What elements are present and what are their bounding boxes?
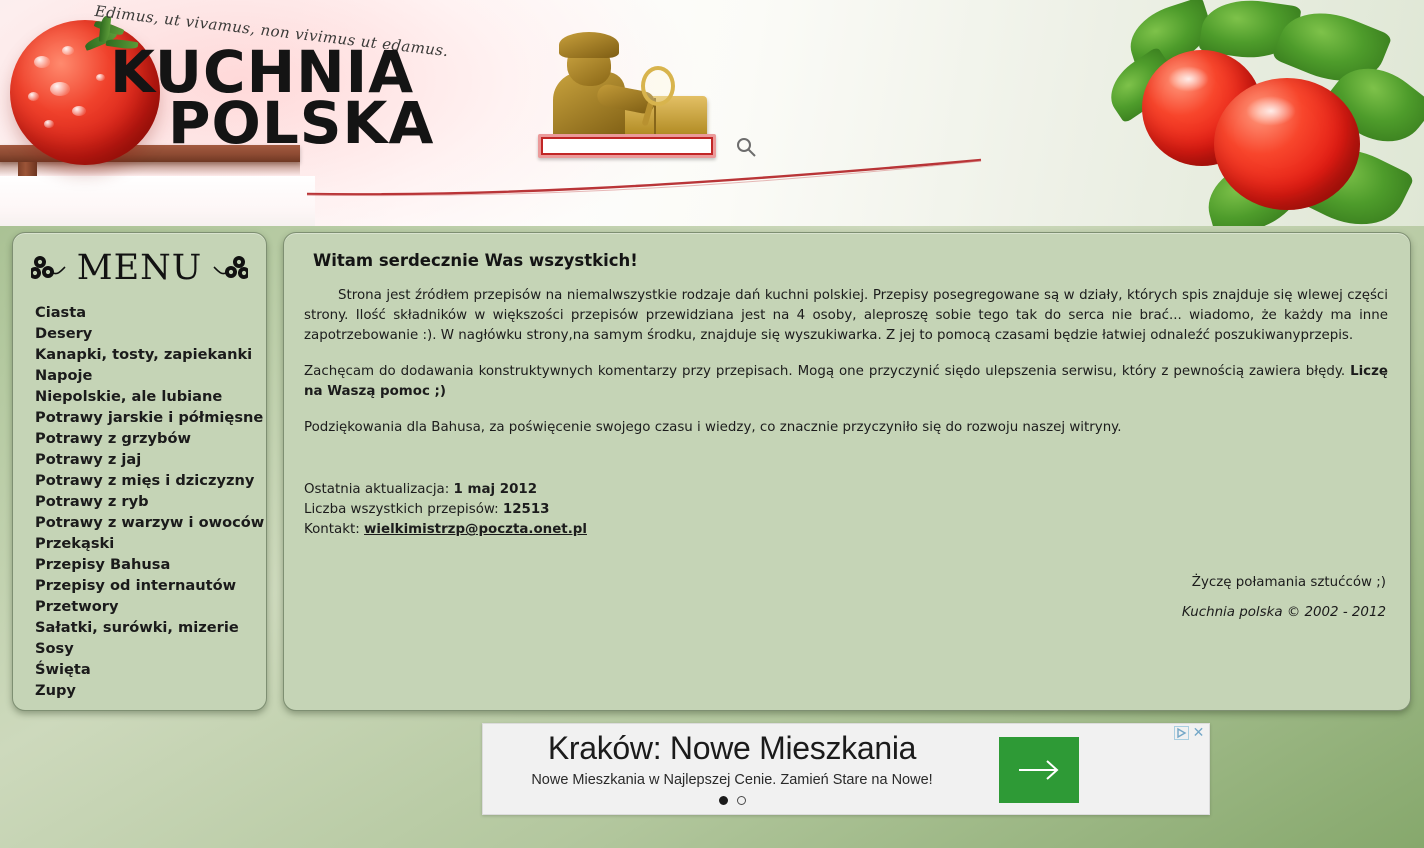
sidebar-item-swieta[interactable]: Święta (35, 659, 266, 680)
last-update-row: Ostatnia aktualizacja: 1 maj 2012 (304, 480, 1388, 500)
floral-ornament-right-icon (210, 253, 248, 283)
signoff-block: Życzę połamania sztućców ;) Kuchnia pols… (1182, 568, 1386, 628)
sidebar-item-przepisy-bahusa[interactable]: Przepisy Bahusa (35, 554, 266, 575)
intro-paragraph: Strona jest źródłem przepisów na niemalw… (304, 286, 1388, 346)
detective-illustration (545, 28, 710, 146)
menu-title: MENU (13, 246, 266, 290)
sidebar-item-sosy[interactable]: Sosy (35, 638, 266, 659)
menu-list: Ciasta Desery Kanapki, tosty, zapiekanki… (13, 302, 266, 701)
logo-line-2: POLSKA (168, 98, 434, 149)
adchoices-icon[interactable] (1174, 725, 1189, 739)
ad-dot-1[interactable] (719, 796, 728, 805)
page-title: Witam serdecznie Was wszystkich! (313, 251, 1388, 270)
table-shadow (0, 162, 300, 176)
sidebar-item-przepisy-internautow[interactable]: Przepisy od internautów (35, 575, 266, 596)
signoff-text: Życzę połamania sztućców ;) (1182, 568, 1386, 598)
sidebar-item-ciasta[interactable]: Ciasta (35, 302, 266, 323)
floral-ornament-left-icon (31, 253, 69, 283)
recipe-count-row: Liczba wszystkich przepisów: 12513 (304, 500, 1388, 520)
contact-email-link[interactable]: wielkimistrzp@poczta.onet.pl (364, 522, 587, 537)
sidebar-menu-panel: MENU Ciasta Desery Kanapki, tosty, zapie… (12, 232, 267, 711)
menu-title-label: MENU (77, 251, 203, 286)
sidebar-item-przetwory[interactable]: Przetwory (35, 596, 266, 617)
header-white-sheet (0, 176, 315, 226)
ad-cta-button[interactable] (999, 737, 1079, 803)
ad-dot-2[interactable] (737, 796, 746, 805)
sidebar-item-miesa[interactable]: Potrawy z mięs i dziczyzny (35, 470, 266, 491)
recipe-count-value: 12513 (503, 502, 550, 517)
ad-title: Kraków: Nowe Mieszkania (497, 730, 967, 767)
comments-paragraph: Zachęcam do dodawania konstruktywnych ko… (304, 362, 1388, 402)
magnifier-lens-icon (641, 66, 675, 106)
sidebar-item-napoje[interactable]: Napoje (35, 365, 266, 386)
ad-close-icon[interactable]: ✕ (1191, 725, 1206, 739)
red-swoosh-decoration (305, 152, 985, 200)
thanks-paragraph: Podziękowania dla Bahusa, za poświęcenie… (304, 418, 1388, 438)
site-stats: Ostatnia aktualizacja: 1 maj 2012 Liczba… (304, 480, 1388, 540)
sidebar-item-ryby[interactable]: Potrawy z ryb (35, 491, 266, 512)
sidebar-item-jaja[interactable]: Potrawy z jaj (35, 449, 266, 470)
site-logo[interactable]: KUCHNIA POLSKA (110, 47, 434, 149)
comments-paragraph-text: Zachęcam do dodawania konstruktywnych ko… (304, 364, 1350, 379)
arrow-right-icon (1015, 757, 1063, 783)
sidebar-item-przekaski[interactable]: Przekąski (35, 533, 266, 554)
sidebar-item-grzyby[interactable]: Potrawy z grzybów (35, 428, 266, 449)
last-update-label: Ostatnia aktualizacja: (304, 482, 449, 497)
sidebar-item-kanapki[interactable]: Kanapki, tosty, zapiekanki (35, 344, 266, 365)
sidebar-item-jarskie[interactable]: Potrawy jarskie i półmięsne (35, 407, 266, 428)
site-header: Edimus, ut vivamus, non vivimus ut edamu… (0, 0, 1424, 226)
tomatoes-right-image (1094, 0, 1424, 226)
sidebar-item-warzywa[interactable]: Potrawy z warzyw i owoców (35, 512, 266, 533)
sidebar-item-desery[interactable]: Desery (35, 323, 266, 344)
main-content-panel: Witam serdecznie Was wszystkich! Strona … (283, 232, 1411, 711)
sidebar-item-niepolskie[interactable]: Niepolskie, ale lubiane (35, 386, 266, 407)
ad-banner[interactable]: Kraków: Nowe Mieszkania Nowe Mieszkania … (482, 723, 1210, 815)
contact-row: Kontakt: wielkimistrzp@poczta.onet.pl (304, 520, 1388, 540)
copyright-text: Kuchnia polska © 2002 - 2012 (1182, 598, 1386, 628)
ad-subtitle: Nowe Mieszkania w Najlepszej Cenie. Zami… (497, 772, 967, 788)
contact-label: Kontakt: (304, 522, 360, 537)
ad-carousel-dots (497, 796, 967, 805)
last-update-value: 1 maj 2012 (454, 482, 538, 497)
detective-hat (559, 32, 619, 58)
recipe-count-label: Liczba wszystkich przepisów: (304, 502, 499, 517)
sidebar-item-salatki[interactable]: Sałatki, surówki, mizerie (35, 617, 266, 638)
sidebar-item-zupy[interactable]: Zupy (35, 680, 266, 701)
